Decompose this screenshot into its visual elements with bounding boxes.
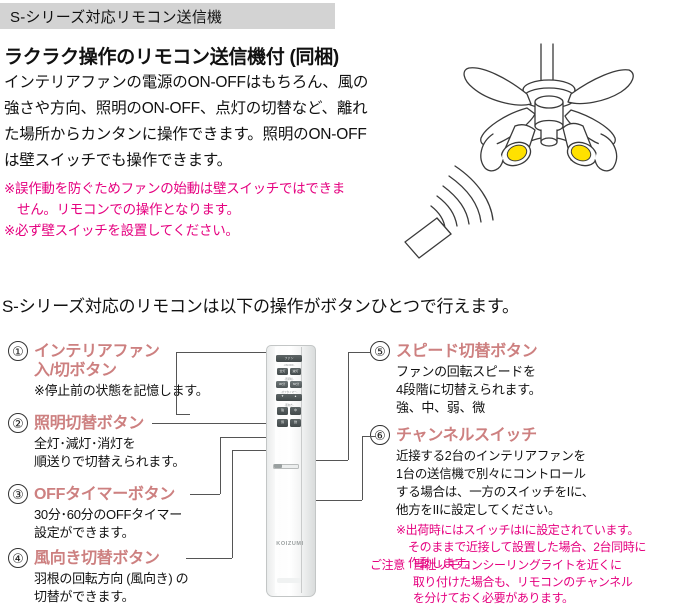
feature-item-6-warning-line-2: そのままで近接して設置した場合、2台同時に	[396, 539, 660, 556]
feature-item-6-desc-line-4: 他方をIIに設定してください。	[396, 503, 560, 517]
intro-body-text: インテリアファンの電源のON-OFFはもちろん、風の強さや方向、照明のON-OF…	[4, 70, 372, 174]
feature-item-6-header: ⑥ チャンネルスイッチ	[370, 425, 660, 445]
feature-item-2-desc-line-2: 順送りで切替えられます。	[34, 454, 185, 469]
remote-timer-label: -オフタイマー-	[270, 390, 308, 394]
caution-line-3: を分けておく必要があります。	[413, 591, 574, 605]
feature-item-3-desc: 30分･60分のOFFタイマー 設定ができます。	[34, 506, 223, 542]
feature-item-4-desc-line-2: 切替ができます。	[34, 589, 134, 604]
feature-item-5-desc-line-2: 4段階に切替えられます。	[396, 382, 541, 397]
feature-item-1-title-line-1: インテリアファン	[34, 343, 160, 360]
feature-item-6-number: ⑥	[370, 425, 390, 445]
remote-bottom-accent	[277, 578, 301, 583]
feature-item-3-desc-line-1: 30分･60分のOFFタイマー	[34, 507, 182, 522]
caution-block: ご注意 当社リモコンシーリングライトを近くに 取り付けた場合も、リモコンのチャン…	[370, 557, 665, 607]
feature-item-5-number: ⑤	[370, 341, 390, 361]
feature-item-1-number: ①	[8, 341, 28, 361]
leader-line-1-stub	[176, 414, 190, 415]
feature-item-6-desc-line-3: する場合は、一方のスイッチをIに、	[396, 485, 594, 499]
leader-line-4-horizontal	[186, 558, 232, 559]
page-header-title: S-シリーズ対応リモコン送信機	[0, 6, 222, 27]
leader-line-1-vertical	[176, 352, 177, 414]
feature-item-2-number: ②	[8, 413, 28, 433]
intro-warning-notes: ※誤作動を防ぐためファンの始動は壁スイッチではできま せん。リモコンでの操作とな…	[4, 178, 386, 241]
feature-item-2-desc: 全灯･減灯･消灯を 順送りで切替えられます。	[34, 435, 218, 471]
feature-item-1: ① インテリアファン 入/切ボタン ※停止前の状態を記憶します。	[8, 341, 218, 400]
feature-item-3: ③ OFFタイマーボタン 30分･60分のOFFタイマー 設定ができます。	[8, 484, 223, 542]
feature-item-6: ⑥ チャンネルスイッチ 近接する2台のインテリアファンを 1台の送信機で別々にコ…	[370, 425, 660, 572]
remote-direction-down-icon: ▼	[276, 395, 289, 398]
remote-control-illustration: ファン -ON/OFF- 全灯 減灯 -照明切- 30分 60分 -オフタイマー…	[262, 345, 318, 597]
leader-line-6-horizontal	[362, 436, 376, 437]
caution-body: 当社リモコンシーリングライトを近くに 取り付けた場合も、リモコンのチャンネル を…	[405, 557, 633, 607]
leader-line-5-vertical	[348, 352, 349, 460]
leader-line-4-vertical	[232, 450, 233, 558]
feature-item-5: ⑤ スピード切替ボタン ファンの回転スピードを 4段階に切替えられます。 強、中…	[370, 341, 620, 417]
ceiling-fan-illustration	[375, 42, 671, 272]
feature-item-5-desc-line-1: ファンの回転スピードを	[396, 364, 536, 379]
feature-item-2-desc-line-1: 全灯･減灯･消灯を	[34, 436, 135, 451]
leader-line-6-vertical	[362, 436, 363, 500]
feature-item-5-title: スピード切替ボタン	[396, 342, 537, 361]
remote-speed-button-strong-text: 強	[277, 409, 288, 412]
feature-item-6-desc: 近接する2台のインテリアファンを 1台の送信機で別々にコントロール する場合は、…	[396, 447, 660, 519]
page-header-bar: S-シリーズ対応リモコン送信機	[0, 3, 335, 29]
leader-line-5-horizontal	[348, 352, 370, 353]
remote-timer-button-a-text: 30分	[276, 383, 288, 386]
remote-direction-up-icon: ▲	[289, 395, 302, 398]
feature-item-6-desc-line-2: 1台の送信機で別々にコントロール	[396, 467, 586, 481]
feature-item-4-number: ④	[8, 548, 28, 568]
feature-item-4-desc: 羽根の回転方向 (風向き) の 切替ができます。	[34, 570, 223, 606]
feature-item-3-title: OFFタイマーボタン	[34, 485, 175, 504]
feature-item-5-desc: ファンの回転スピードを 4段階に切替えられます。 強、中、弱、微	[396, 363, 620, 417]
leader-line-2-horizontal	[152, 423, 280, 424]
remote-timer-button-b-text: 60分	[290, 383, 302, 386]
feature-item-2-title: 照明切替ボタン	[34, 414, 144, 433]
caution-label: ご注意	[370, 557, 405, 607]
feature-item-3-desc-line-2: 設定ができます。	[34, 525, 134, 540]
leader-line-3-vertical	[220, 437, 221, 494]
feature-item-4-title: 風向き切替ボタン	[34, 549, 160, 568]
feature-item-3-number: ③	[8, 484, 28, 504]
remote-channel-switch-knob[interactable]	[274, 464, 282, 468]
caution-line-2: 取り付けた場合も、リモコンのチャンネル	[413, 575, 633, 589]
feature-item-5-desc-line-3: 強、中、弱、微	[396, 400, 485, 415]
remote-light-button-a-text: 全灯	[277, 370, 288, 373]
feature-item-1-title-line-2: 入/切ボタン	[34, 362, 117, 379]
feature-item-1-title: インテリアファン 入/切ボタン	[34, 342, 160, 380]
remote-direction-label: -風向き-	[272, 403, 306, 407]
intro-note-2: ※必ず壁スイッチを設置してください。	[4, 220, 386, 241]
remote-light-label: -照明切-	[272, 377, 306, 381]
intro-note-1-line-1: ※誤作動を防ぐためファンの始動は壁スイッチではできま	[4, 178, 386, 199]
feature-item-1-desc: ※停止前の状態を記憶します。	[34, 382, 218, 400]
feature-item-5-header: ⑤ スピード切替ボタン	[370, 341, 620, 361]
feature-item-6-desc-line-1: 近接する2台のインテリアファンを	[396, 449, 586, 463]
feature-item-2: ② 照明切替ボタン 全灯･減灯･消灯を 順送りで切替えられます。	[8, 413, 218, 471]
intro-note-1-line-2: せん。リモコンでの操作となります。	[4, 199, 386, 220]
remote-fan-power-label: -ON/OFF-	[272, 364, 306, 367]
feature-item-6-warning-line-1: ※出荷時にはスイッチはIに設定されています。	[396, 523, 639, 537]
caution-line-1: 当社リモコンシーリングライトを近くに	[413, 558, 622, 572]
leader-line-3-horizontal	[190, 494, 220, 495]
feature-item-4-desc-line-1: 羽根の回転方向 (風向き) の	[34, 571, 188, 586]
remote-speed-button-medium-text: 中	[290, 409, 301, 412]
remote-speed-button-weak-text: 弱	[277, 421, 288, 424]
feature-item-1-header: ① インテリアファン 入/切ボタン	[8, 341, 218, 380]
remote-light-button-b-text: 減灯	[290, 370, 301, 373]
remote-brand-logo: KOIZUMI	[262, 541, 318, 547]
feature-item-4: ④ 風向き切替ボタン 羽根の回転方向 (風向き) の 切替ができます。	[8, 548, 223, 606]
intro-title: ラクラク操作のリモコン送信機付 (同梱)	[4, 42, 404, 69]
remote-speed-button-fine-text: 微	[290, 421, 301, 424]
section-heading: S-シリーズ対応のリモコンは以下の操作がボタンひとつで行えます。	[2, 292, 562, 317]
feature-item-6-title: チャンネルスイッチ	[396, 426, 537, 445]
remote-fan-power-button-text: ファン	[276, 357, 302, 360]
